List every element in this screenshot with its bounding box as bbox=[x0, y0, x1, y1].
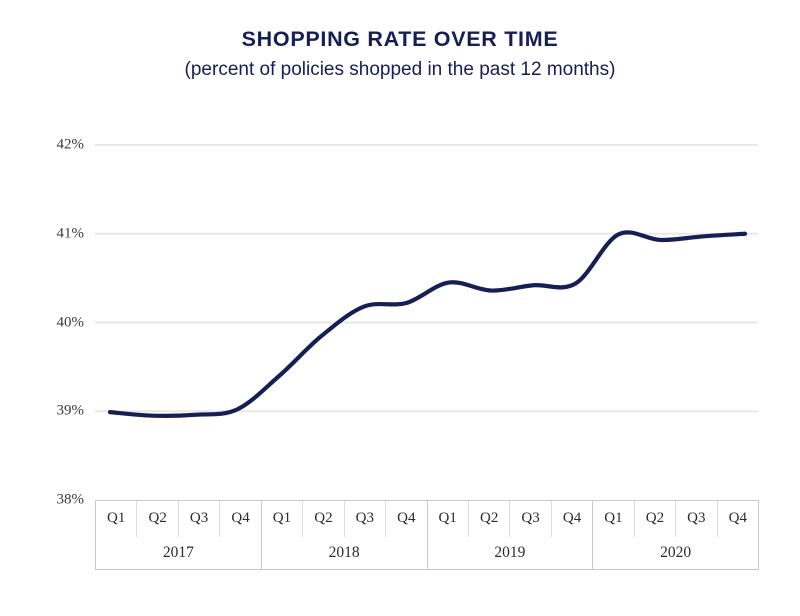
x-axis-year-row: 2017201820192020 bbox=[96, 537, 758, 569]
y-axis-tick-label: 41% bbox=[28, 225, 84, 242]
x-axis-year-2020: 2020 bbox=[592, 537, 758, 569]
x-axis-quarter-q1-2018: Q1 bbox=[262, 501, 302, 537]
x-axis-quarter-q2-2017: Q2 bbox=[136, 501, 177, 537]
x-axis-quarter-q1-2017: Q1 bbox=[96, 501, 136, 537]
x-axis-quarter-q4-2017: Q4 bbox=[219, 501, 260, 537]
x-axis-quarter-group-2020: Q1Q2Q3Q4 bbox=[592, 501, 758, 537]
x-axis-quarter-q1-2019: Q1 bbox=[428, 501, 468, 537]
y-axis-tick-label: 38% bbox=[28, 492, 84, 509]
x-axis-quarter-q1-2020: Q1 bbox=[593, 501, 633, 537]
gridlines-group bbox=[95, 145, 758, 500]
x-axis-quarter-group-2017: Q1Q2Q3Q4 bbox=[96, 501, 261, 537]
x-axis-quarter-q3-2019: Q3 bbox=[509, 501, 550, 537]
y-axis-tick-label: 39% bbox=[28, 403, 84, 420]
x-axis-year-2019: 2019 bbox=[427, 537, 593, 569]
x-axis-year-2018: 2018 bbox=[261, 537, 427, 569]
x-axis-quarter-q4-2018: Q4 bbox=[385, 501, 426, 537]
x-axis-quarter-group-2019: Q1Q2Q3Q4 bbox=[427, 501, 593, 537]
x-axis-quarter-group-2018: Q1Q2Q3Q4 bbox=[261, 501, 427, 537]
y-axis-tick-label: 42% bbox=[28, 137, 84, 154]
x-axis-table: Q1Q2Q3Q4Q1Q2Q3Q4Q1Q2Q3Q4Q1Q2Q3Q4 2017201… bbox=[95, 500, 759, 570]
x-axis-quarter-q4-2019: Q4 bbox=[551, 501, 592, 537]
x-axis-quarter-q2-2020: Q2 bbox=[634, 501, 675, 537]
x-axis-quarter-q3-2020: Q3 bbox=[675, 501, 716, 537]
x-axis-quarter-q3-2018: Q3 bbox=[344, 501, 385, 537]
x-axis-quarter-q3-2017: Q3 bbox=[178, 501, 219, 537]
x-axis-year-2017: 2017 bbox=[96, 537, 261, 569]
x-axis-quarter-q4-2020: Q4 bbox=[717, 501, 758, 537]
x-axis-quarter-q2-2018: Q2 bbox=[302, 501, 343, 537]
series-line-shopping-rate bbox=[110, 232, 745, 416]
x-axis-quarter-q2-2019: Q2 bbox=[468, 501, 509, 537]
x-axis-quarter-row: Q1Q2Q3Q4Q1Q2Q3Q4Q1Q2Q3Q4Q1Q2Q3Q4 bbox=[96, 501, 758, 537]
chart-container: SHOPPING RATE OVER TIME (percent of poli… bbox=[0, 0, 800, 616]
y-axis-tick-label: 40% bbox=[28, 314, 84, 331]
